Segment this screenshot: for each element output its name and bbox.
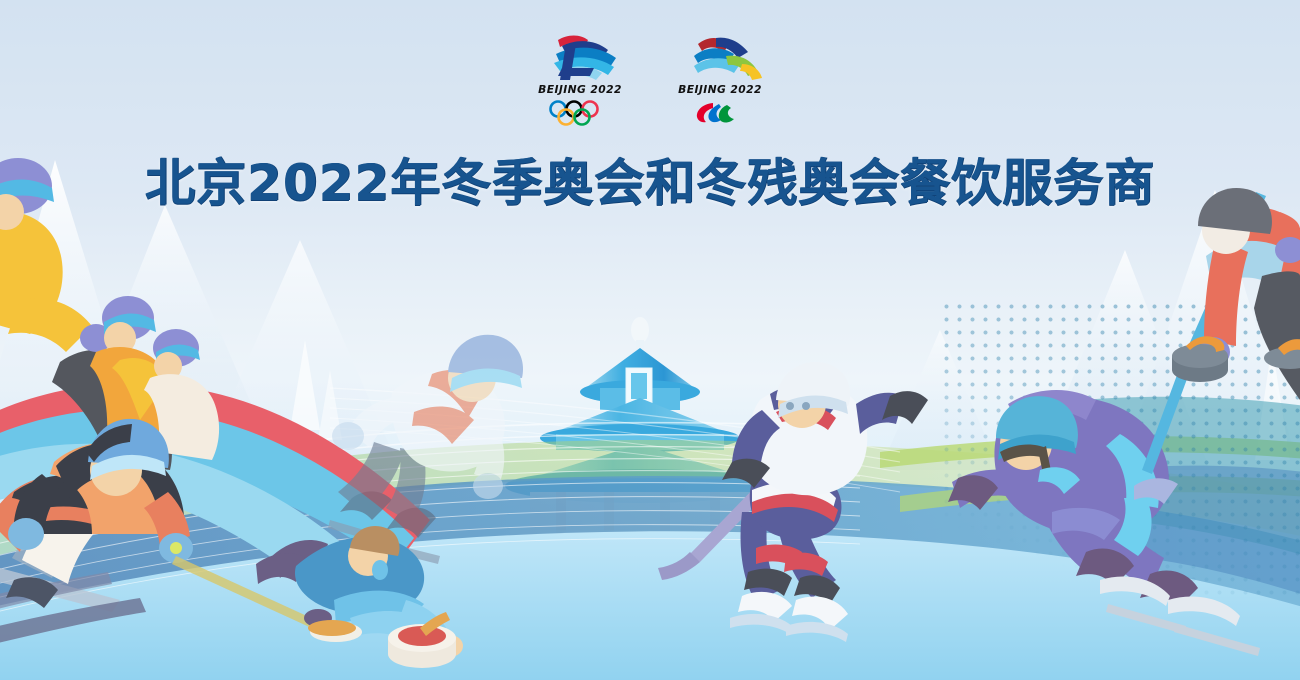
paralympic-agitos-icon bbox=[672, 100, 768, 124]
banner-root: BEIJING 2022 bbox=[0, 0, 1300, 680]
olympic-wordmark: BEIJING 2022 bbox=[531, 84, 629, 96]
paralympic-wordmark: BEIJING 2022 bbox=[671, 84, 769, 96]
page-title: 北京2022年冬季奥会和冬残奥会餐饮服务商 bbox=[0, 143, 1300, 215]
paralympic-emblem: BEIJING 2022 bbox=[672, 30, 768, 134]
emblem-row: BEIJING 2022 bbox=[0, 30, 1300, 140]
olympic-rings-icon bbox=[532, 100, 628, 126]
olympic-emblem: BEIJING 2022 bbox=[532, 30, 628, 134]
